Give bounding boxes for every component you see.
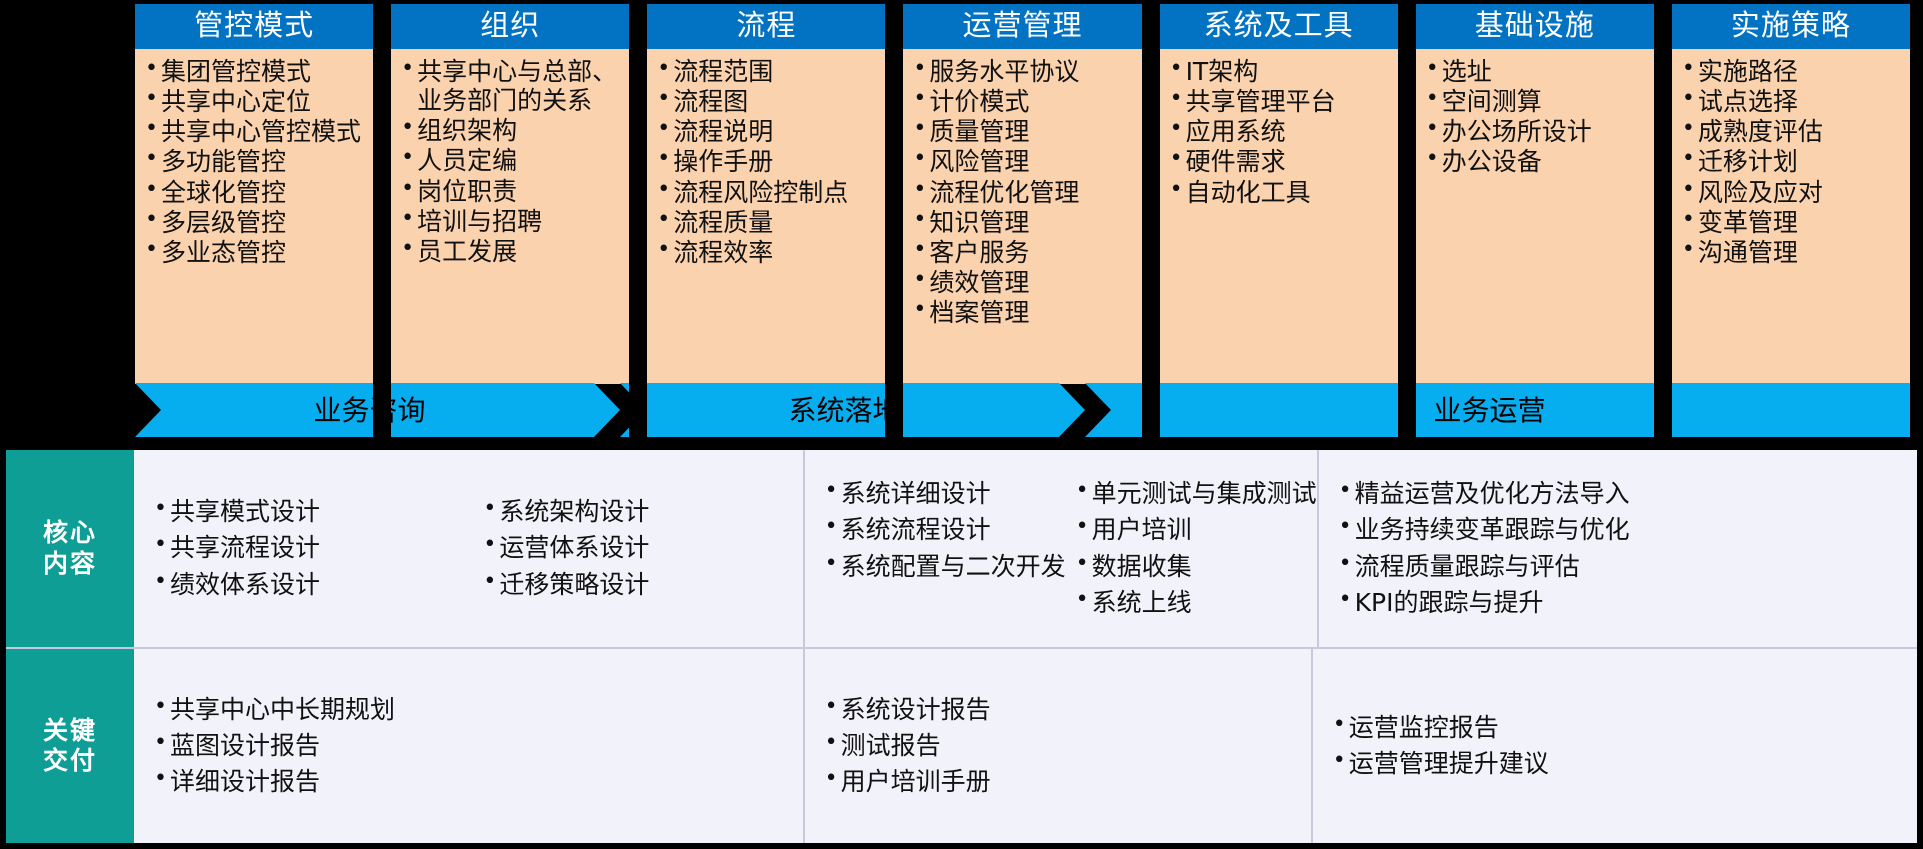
summary-item: 系统上线: [1076, 585, 1317, 621]
summary-item: 流程质量跟踪与评估: [1339, 549, 1923, 585]
pillar-title[interactable]: 实施策略: [1672, 4, 1910, 49]
pillar-title[interactable]: 系统及工具: [1160, 4, 1398, 49]
row-label-line1: 核心: [43, 518, 97, 549]
summary-item: 测试报告: [825, 728, 1311, 764]
pillar-item: 共享中心定位: [145, 87, 367, 116]
pillar-item: 共享中心管控模式: [145, 117, 367, 146]
pillar-item: 人员定编: [401, 146, 623, 175]
pillar-item: 多层级管控: [145, 208, 367, 237]
pillar-item: 组织架构: [401, 116, 623, 145]
pillar-title[interactable]: 管控模式: [135, 4, 373, 49]
row-label-line2: 交付: [43, 746, 97, 777]
row-cells: 共享模式设计共享流程设计绩效体系设计系统架构设计运营体系设计迁移策略设计系统详细…: [134, 450, 1917, 647]
pillar-item: 流程风险控制点: [657, 178, 879, 207]
pillar-column-7: 实施策略实施路径试点选择成熟度评估迁移计划风险及应对变革管理沟通管理: [1672, 4, 1910, 384]
summary-list: 系统详细设计系统流程设计系统配置与二次开发: [811, 476, 1066, 621]
pillar-item: 风险及应对: [1682, 178, 1904, 207]
pillar-item: 质量管理: [913, 117, 1135, 146]
row-label: 关键交付: [6, 649, 134, 843]
pillar-column-2: 组织共享中心与总部、业务部门的关系组织架构人员定编岗位职责培训与招聘员工发展: [391, 4, 629, 384]
pillar-item: 客户服务: [913, 238, 1135, 267]
pillar-item: 流程说明: [657, 117, 879, 146]
pillar-item: 流程优化管理: [913, 178, 1135, 207]
column-gutter: [629, 4, 647, 444]
column-gutter: [1142, 4, 1160, 444]
pillar-item: 硬件需求: [1170, 147, 1392, 176]
pillar-title[interactable]: 运营管理: [903, 4, 1141, 49]
pillar-column-5: 系统及工具IT架构共享管理平台应用系统硬件需求自动化工具: [1160, 4, 1398, 384]
summary-item: 单元测试与集成测试: [1076, 476, 1317, 512]
column-gutter: [373, 4, 391, 444]
phase-arrow-3[interactable]: 业务运营: [1085, 383, 1910, 437]
pillar-item: 变革管理: [1682, 208, 1904, 237]
phase-arrow-label: 业务运营: [1433, 389, 1545, 429]
pillar-item: 应用系统: [1170, 117, 1392, 146]
phase-arrow-2[interactable]: 系统落地: [620, 383, 1085, 437]
summary-item: 系统架构设计: [483, 494, 802, 530]
pillar-item: 办公设备: [1426, 147, 1648, 176]
summary-list: 系统架构设计运营体系设计迁移策略设计: [473, 494, 802, 603]
pillar-item: 试点选择: [1682, 87, 1904, 116]
pillar-item: 流程质量: [657, 208, 879, 237]
summary-table: 核心内容共享模式设计共享流程设计绩效体系设计系统架构设计运营体系设计迁移策略设计…: [4, 448, 1919, 845]
pillar-item: 流程效率: [657, 238, 879, 267]
pillar-column-4: 运营管理服务水平协议计价模式质量管理风险管理流程优化管理知识管理客户服务绩效管理…: [903, 4, 1141, 384]
pillar-item: 迁移计划: [1682, 147, 1904, 176]
summary-item: 数据收集: [1076, 549, 1317, 585]
summary-list: 共享模式设计共享流程设计绩效体系设计: [140, 494, 473, 603]
summary-item: 精益运营及优化方法导入: [1339, 476, 1923, 512]
pillar-band: 管控模式集团管控模式共享中心定位共享中心管控模式多功能管控全球化管控多层级管控多…: [135, 4, 1915, 444]
summary-list: 共享中心中长期规划蓝图设计报告详细设计报告: [140, 692, 803, 801]
summary-item: 共享中心中长期规划: [154, 692, 803, 728]
pillar-item: 操作手册: [657, 147, 879, 176]
column-gutter: [1398, 4, 1416, 444]
summary-row-2: 关键交付共享中心中长期规划蓝图设计报告详细设计报告系统设计报告测试报告用户培训手…: [6, 649, 1917, 843]
pillar-item: 岗位职责: [401, 177, 623, 206]
phase-arrow-label: 系统落地: [788, 389, 900, 429]
pillar-title[interactable]: 流程: [647, 4, 885, 49]
pillar-item: 沟通管理: [1682, 238, 1904, 267]
pillar-title[interactable]: 组织: [391, 4, 629, 49]
pillar-item: 空间测算: [1426, 87, 1648, 116]
diagram-root: 管控模式集团管控模式共享中心定位共享中心管控模式多功能管控全球化管控多层级管控多…: [0, 0, 1923, 849]
pillar-item: 绩效管理: [913, 268, 1135, 297]
column-gutter: [1654, 4, 1672, 444]
pillar-item: 流程图: [657, 87, 879, 116]
summary-row-1: 核心内容共享模式设计共享流程设计绩效体系设计系统架构设计运营体系设计迁移策略设计…: [6, 450, 1917, 647]
phase-arrow-band: 业务咨询系统落地业务运营: [135, 383, 1915, 437]
pillar-title[interactable]: 基础设施: [1416, 4, 1654, 49]
row-label-line1: 关键: [43, 716, 97, 747]
column-gutter: [885, 4, 903, 444]
row-label: 核心内容: [6, 450, 134, 647]
summary-item: 共享流程设计: [154, 530, 473, 566]
summary-list: 单元测试与集成测试用户培训数据收集系统上线: [1066, 476, 1317, 621]
row-cells: 共享中心中长期规划蓝图设计报告详细设计报告系统设计报告测试报告用户培训手册运营监…: [134, 649, 1917, 843]
phase-arrow-label: 业务咨询: [313, 389, 425, 429]
summary-item: 运营监控报告: [1333, 710, 1917, 746]
pillar-item: 自动化工具: [1170, 178, 1392, 207]
pillar-item: 计价模式: [913, 87, 1135, 116]
pillar-item: 共享中心与总部、业务部门的关系: [401, 57, 623, 115]
summary-item: 用户培训: [1076, 512, 1317, 548]
pillar-item: IT架构: [1170, 57, 1392, 86]
pillar-column-6: 基础设施选址空间测算办公场所设计办公设备: [1416, 4, 1654, 384]
summary-item: 运营体系设计: [483, 530, 802, 566]
summary-item: KPI的跟踪与提升: [1339, 585, 1923, 621]
pillar-item-list: 选址空间测算办公场所设计办公设备: [1416, 49, 1654, 384]
summary-item: 共享模式设计: [154, 494, 473, 530]
pillar-item: 全球化管控: [145, 178, 367, 207]
summary-cell-r1-c3: 精益运营及优化方法导入业务持续变革跟踪与优化流程质量跟踪与评估KPI的跟踪与提升: [1317, 450, 1923, 647]
summary-cell-r2-c2: 系统设计报告测试报告用户培训手册: [803, 649, 1311, 843]
pillar-item-list: IT架构共享管理平台应用系统硬件需求自动化工具: [1160, 49, 1398, 384]
pillar-item: 档案管理: [913, 298, 1135, 327]
summary-item: 绩效体系设计: [154, 567, 473, 603]
pillar-item-list: 实施路径试点选择成熟度评估迁移计划风险及应对变革管理沟通管理: [1672, 49, 1910, 384]
pillar-item-list: 服务水平协议计价模式质量管理风险管理流程优化管理知识管理客户服务绩效管理档案管理: [903, 49, 1141, 384]
summary-item: 业务持续变革跟踪与优化: [1339, 512, 1923, 548]
pillar-item: 多功能管控: [145, 147, 367, 176]
pillar-item: 集团管控模式: [145, 57, 367, 86]
summary-cell-r2-c3: 运营监控报告运营管理提升建议: [1311, 649, 1917, 843]
pillar-item: 服务水平协议: [913, 57, 1135, 86]
row-label-line2: 内容: [43, 549, 97, 580]
pillar-item: 办公场所设计: [1426, 117, 1648, 146]
summary-list: 精益运营及优化方法导入业务持续变革跟踪与优化流程质量跟踪与评估KPI的跟踪与提升: [1325, 476, 1923, 621]
pillar-item: 多业态管控: [145, 238, 367, 267]
pillar-item: 成熟度评估: [1682, 117, 1904, 146]
pillar-item-list: 共享中心与总部、业务部门的关系组织架构人员定编岗位职责培训与招聘员工发展: [391, 49, 629, 384]
pillar-item: 流程范围: [657, 57, 879, 86]
summary-cell-r1-c1: 共享模式设计共享流程设计绩效体系设计系统架构设计运营体系设计迁移策略设计: [134, 450, 803, 647]
summary-item: 系统详细设计: [825, 476, 1066, 512]
pillar-item: 实施路径: [1682, 57, 1904, 86]
pillar-item-list: 流程范围流程图流程说明操作手册流程风险控制点流程质量流程效率: [647, 49, 885, 384]
summary-list: 系统设计报告测试报告用户培训手册: [811, 692, 1311, 801]
summary-item: 迁移策略设计: [483, 567, 802, 603]
pillar-item-list: 集团管控模式共享中心定位共享中心管控模式多功能管控全球化管控多层级管控多业态管控: [135, 49, 373, 384]
summary-item: 系统流程设计: [825, 512, 1066, 548]
pillar-item: 员工发展: [401, 237, 623, 266]
pillar-column-3: 流程流程范围流程图流程说明操作手册流程风险控制点流程质量流程效率: [647, 4, 885, 384]
summary-item: 详细设计报告: [154, 764, 803, 800]
pillar-item: 知识管理: [913, 208, 1135, 237]
summary-list: 运营监控报告运营管理提升建议: [1319, 710, 1917, 783]
summary-item: 用户培训手册: [825, 764, 1311, 800]
pillar-item: 共享管理平台: [1170, 87, 1392, 116]
pillar-item: 培训与招聘: [401, 207, 623, 236]
summary-item: 运营管理提升建议: [1333, 746, 1917, 782]
summary-cell-r2-c1: 共享中心中长期规划蓝图设计报告详细设计报告: [134, 649, 803, 843]
summary-cell-r1-c2: 系统详细设计系统流程设计系统配置与二次开发单元测试与集成测试用户培训数据收集系统…: [803, 450, 1317, 647]
pillar-item: 选址: [1426, 57, 1648, 86]
summary-item: 蓝图设计报告: [154, 728, 803, 764]
summary-item: 系统设计报告: [825, 692, 1311, 728]
pillar-column-1: 管控模式集团管控模式共享中心定位共享中心管控模式多功能管控全球化管控多层级管控多…: [135, 4, 373, 384]
summary-item: 系统配置与二次开发: [825, 549, 1066, 585]
pillar-item: 风险管理: [913, 147, 1135, 176]
